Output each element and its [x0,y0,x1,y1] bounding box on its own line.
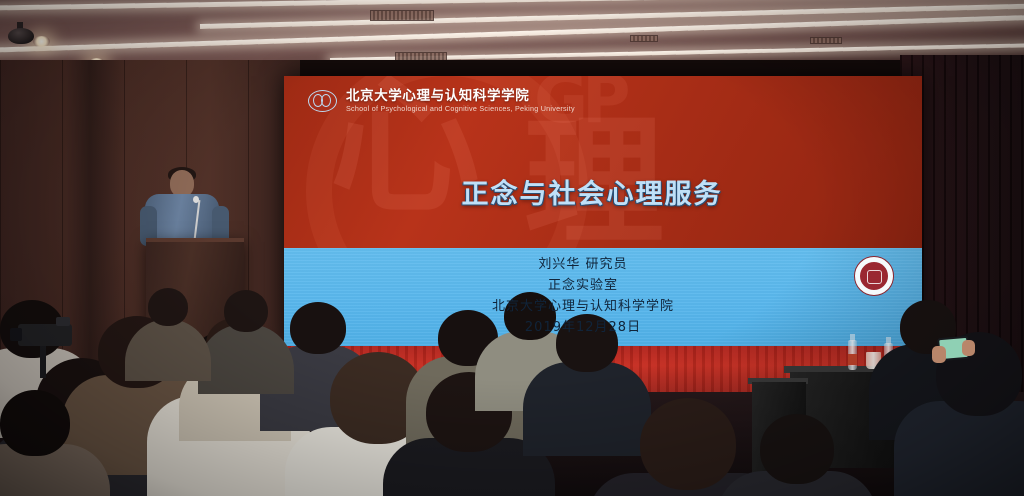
slide-red-band: 心 理 GP 北京大学心理与认知科学学院 School of Psycholog… [284,76,922,248]
slide-blue-band: 刘兴华 研究员 正念实验室 北京大学心理与认知科学学院 2019年12月28日 [284,248,922,348]
audience-member-body [523,362,651,456]
pku-psychology-emblem-icon [308,90,337,112]
slide-org-en: School of Psychological and Cognitive Sc… [346,105,575,113]
air-vent-grille-icon [810,37,842,44]
dome-security-camera-icon [8,28,34,44]
microphone-head [193,196,199,203]
projection-screen: 心 理 GP 北京大学心理与认知科学学院 School of Psycholog… [284,76,922,348]
presenter-block: 刘兴华 研究员 正念实验室 北京大学心理与认知科学学院 2019年12月28日 [284,254,922,338]
presenter-name: 刘兴华 研究员 [284,254,882,275]
water-bottle [848,340,857,370]
air-vent-grille-icon [370,10,434,21]
presenter-lab: 正念实验室 [284,275,882,296]
slide-title: 正念与社会心理服务 [284,172,922,211]
speaker-head [170,170,194,197]
conference-photo-scene: 心 理 GP 北京大学心理与认知科学学院 School of Psycholog… [0,0,1024,496]
presenter-school: 北京大学心理与认知科学学院 [284,296,882,317]
audience-member-head [760,414,834,484]
video-camcorder-icon [18,324,72,346]
hand-left [932,346,946,363]
slide-org-cn: 北京大学心理与认知科学学院 [346,89,575,104]
audience-member-head [148,288,188,326]
audience-member-head [640,398,736,490]
presentation-date: 2019年12月28日 [284,317,882,338]
slide-header-text: 北京大学心理与认知科学学院 School of Psychological an… [346,89,575,113]
audience-member-body [894,401,1024,496]
audience-member-head [224,290,268,332]
air-vent-grille-icon [630,35,658,42]
recessed-downlight-icon [33,36,50,47]
audience-member-head [0,390,70,456]
peking-university-seal-icon [854,256,894,296]
slide-header: 北京大学心理与认知科学学院 School of Psychological an… [308,89,575,113]
hand-right [962,340,975,356]
ceiling-light-strip-icon [200,3,1024,29]
tripod [40,344,46,378]
